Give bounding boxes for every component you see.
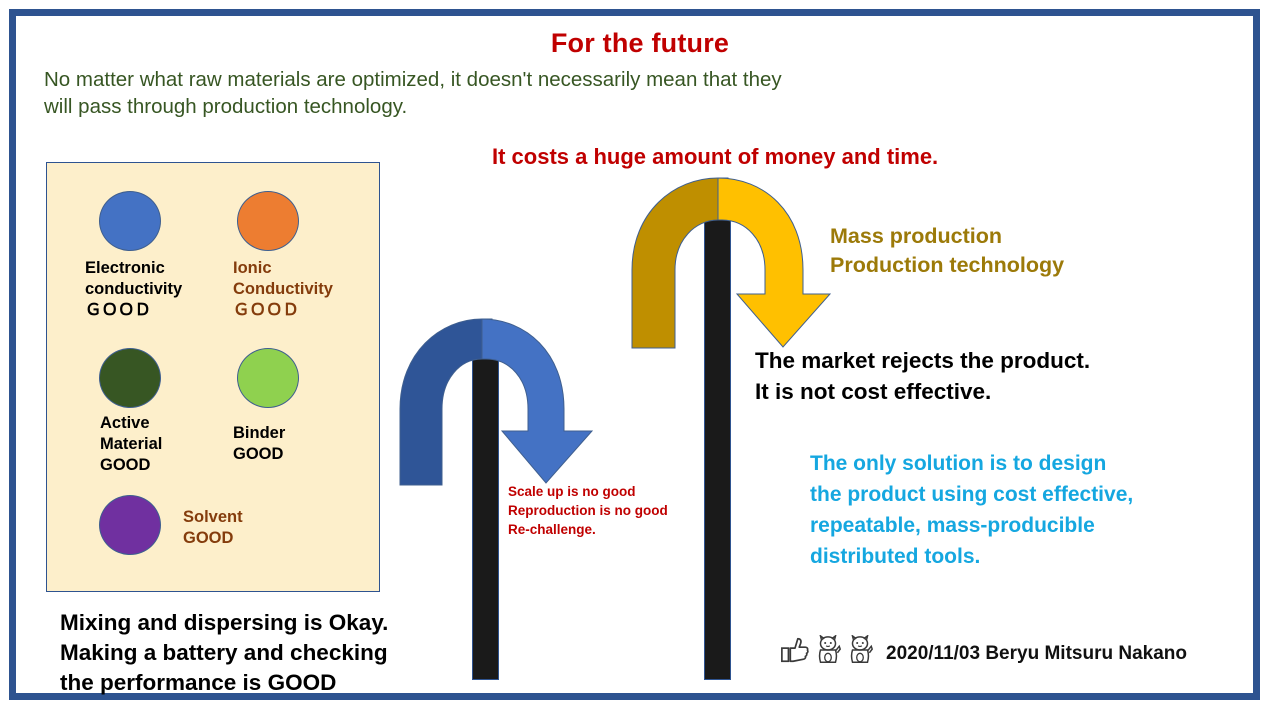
materials-panel: Electronic conductivity ＧＯＯＤ Ionic Condu…	[46, 162, 380, 592]
material-label-solvent: Solvent GOOD	[183, 507, 243, 549]
mixing-conclusion-label: Mixing and dispersing is Okay. Making a …	[60, 608, 388, 698]
page-title: For the future	[0, 28, 1280, 59]
material-label-active-material: Active Material GOOD	[100, 413, 162, 476]
material-dot-solvent	[99, 495, 161, 555]
intro-paragraph: No matter what raw materials are optimiz…	[44, 66, 804, 120]
author-credit: 2020/11/03 Beryu Mitsuru Nakano	[886, 643, 1187, 665]
cost-warning-text: It costs a huge amount of money and time…	[492, 144, 938, 170]
solution-label: The only solution is to design the produ…	[810, 448, 1133, 572]
material-dot-binder	[237, 348, 299, 408]
retry-loop-arrow-blue	[396, 313, 596, 489]
mass-production-label: Mass production Production technology	[830, 222, 1064, 280]
material-label-binder: Binder GOOD	[233, 423, 285, 465]
material-dot-ionic-conductivity	[237, 191, 299, 251]
material-dot-electronic-conductivity	[99, 191, 161, 251]
beckoning-cat-icon-2	[846, 635, 874, 673]
material-dot-active-material	[99, 348, 161, 408]
mass-production-arrow-gold	[628, 172, 833, 352]
material-label-electronic-conductivity: Electronic conductivity ＧＯＯＤ	[85, 258, 182, 321]
slide-canvas: For the future No matter what raw materi…	[0, 0, 1280, 720]
market-rejects-label: The market rejects the product. It is no…	[755, 345, 1090, 407]
scale-up-note: Scale up is no good Reproduction is no g…	[508, 482, 668, 539]
thumbs-up-icon	[780, 635, 810, 673]
material-label-ionic-conductivity: Ionic Conductivity ＧＯＯＤ	[233, 258, 333, 321]
footer-credit-row: 2020/11/03 Beryu Mitsuru Nakano	[780, 635, 1187, 673]
beckoning-cat-icon-1	[814, 635, 842, 673]
